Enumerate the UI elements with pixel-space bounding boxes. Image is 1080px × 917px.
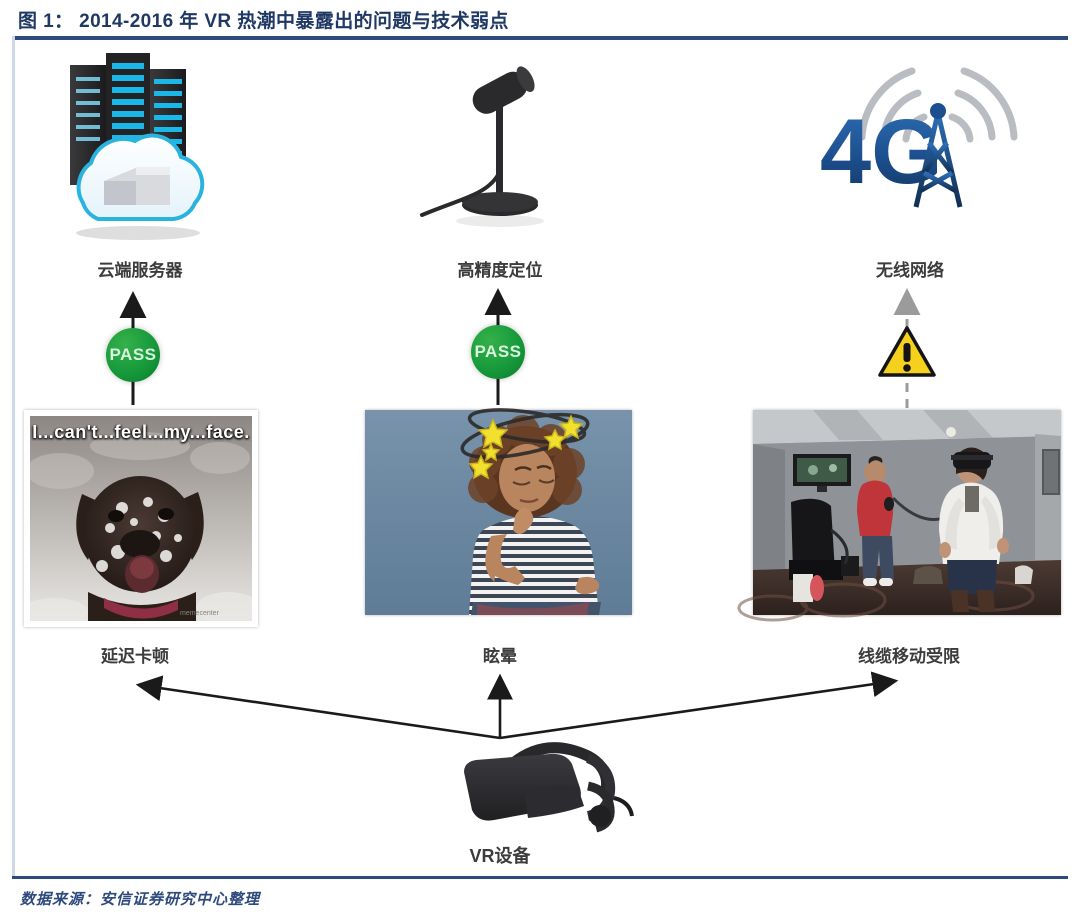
- dizzy-woman-photo: [365, 410, 632, 615]
- dog-meme-photo: memecenter I...can't...feel...my...face.: [24, 410, 258, 627]
- vr-headset-icon: [438, 728, 668, 838]
- meme-caption: I...can't...feel...my...face.: [30, 422, 252, 443]
- problem-label-dizziness: 眩晕: [420, 642, 580, 667]
- pass-badge-label: PASS: [474, 342, 521, 362]
- problem-label-latency: 延迟卡顿: [55, 642, 215, 667]
- tech-label-tracking: 高精度定位: [420, 256, 580, 281]
- left-border: [12, 36, 15, 876]
- page-title: 图 1： 2014-2016 年 VR 热潮中暴露出的问题与技术弱点: [18, 6, 509, 33]
- vr-room-photo: [753, 410, 1061, 615]
- title-divider: [12, 36, 1068, 40]
- status-badge-pass-tracking: PASS: [471, 325, 525, 379]
- svg-text:memecenter: memecenter: [180, 610, 220, 617]
- tracking-sensor-icon: [400, 55, 600, 230]
- cloud-server-icon: [28, 45, 248, 240]
- device-label: VR设备: [420, 842, 580, 868]
- source-note: 数据来源：安信证券研究中心整理: [20, 888, 260, 909]
- tech-label-cloud: 云端服务器: [60, 256, 220, 281]
- status-badge-pass-cloud: PASS: [106, 328, 160, 382]
- pass-badge-label: PASS: [109, 345, 156, 365]
- warning-triangle-icon: [878, 325, 936, 379]
- footer-divider: [12, 876, 1068, 879]
- problem-label-cable: 线缆移动受限: [826, 642, 992, 667]
- tech-label-wireless: 无线网络: [830, 256, 990, 281]
- 4g-tower-icon: 4G: [812, 55, 1027, 225]
